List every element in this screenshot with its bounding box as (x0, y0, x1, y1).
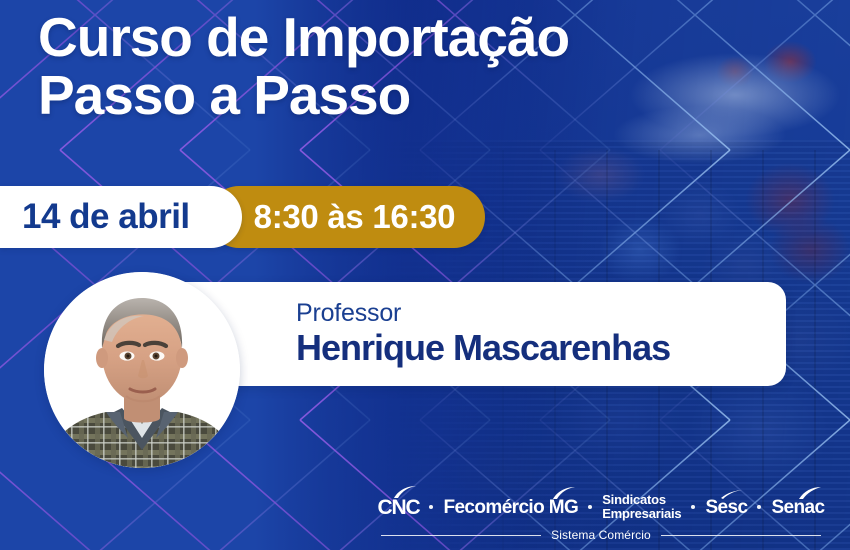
logo-senac: Senac (771, 498, 824, 517)
title-line-2: Passo a Passo (38, 66, 798, 124)
logo-separator-dot (691, 505, 695, 509)
avatar (44, 272, 240, 468)
professor-name: Henrique Mascarenhas (296, 328, 786, 368)
footer-rule-left (381, 535, 541, 536)
date-time-strip: 14 de abril 8:30 às 16:30 (0, 186, 485, 248)
logo-sindicatos-line-1: Sindicatos (602, 492, 666, 507)
logo-sesc-text: Sesc (705, 498, 747, 517)
logo-sindicatos-empresariais: Sindicatos Empresariais (602, 493, 681, 521)
sistema-comercio-footer: Sistema Comércio (360, 528, 842, 542)
time-badge: 8:30 às 16:30 (208, 186, 486, 248)
logo-cnc: CNC (378, 497, 420, 518)
logo-sindicatos-text: Sindicatos Empresariais (602, 493, 681, 521)
logo-row: CNC Fecomércio MG Sindicatos Empresariai… (378, 493, 825, 521)
footer-rule-right (661, 535, 821, 536)
banner-title: Curso de Importação Passo a Passo (38, 8, 798, 125)
logo-fecomercio-text: Fecomércio MG (443, 498, 578, 517)
logo-fecomercio-mg: Fecomércio MG (443, 498, 578, 517)
course-promo-banner: Curso de Importação Passo a Passo 14 de … (0, 0, 850, 550)
professor-card: Professor Henrique Mascarenhas (150, 282, 786, 386)
logo-separator-dot (588, 505, 592, 509)
professor-label: Professor (296, 300, 786, 328)
date-badge: 14 de abril (0, 186, 242, 248)
logo-strip: CNC Fecomércio MG Sindicatos Empresariai… (360, 493, 842, 542)
logo-senac-text: Senac (771, 498, 824, 517)
title-line-1: Curso de Importação (38, 6, 569, 68)
logo-sesc: Sesc (705, 498, 747, 517)
sistema-comercio-text: Sistema Comércio (551, 528, 651, 542)
logo-separator-dot (757, 505, 761, 509)
logo-cnc-text: CNC (378, 497, 420, 518)
logo-separator-dot (429, 505, 433, 509)
logo-sindicatos-line-2: Empresariais (602, 506, 681, 521)
